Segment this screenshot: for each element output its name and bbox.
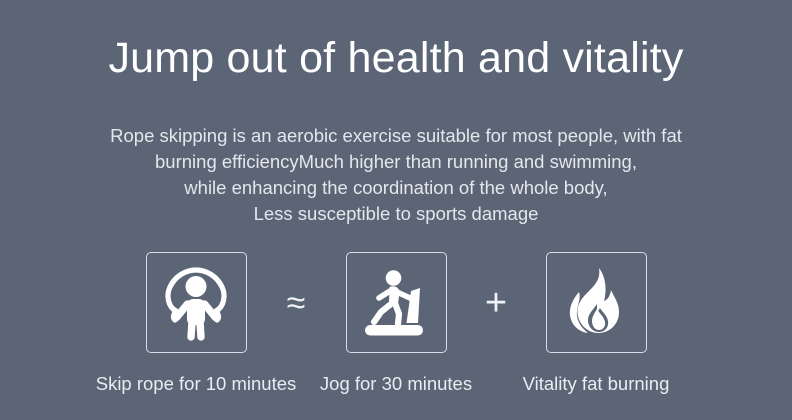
flame-icon: [561, 266, 631, 340]
comparison-item-skip-rope: Skip rope for 10 minutes: [122, 252, 270, 395]
comparison-caption-jog: Jog for 30 minutes: [320, 373, 472, 395]
description-line-2: burning efficiencyMuch higher than runni…: [110, 149, 682, 175]
comparison-row: Skip rope for 10 minutes ≈: [0, 252, 792, 395]
description-line-1: Rope skipping is an aerobic exercise sui…: [110, 123, 682, 149]
description-line-3: while enhancing the coordination of the …: [110, 175, 682, 201]
promo-banner: Jump out of health and vitality Rope ski…: [0, 0, 792, 420]
comparison-item-fat-burning: Vitality fat burning: [522, 252, 670, 395]
approximately-equal-operator: ≈: [270, 252, 322, 353]
comparison-caption-skip-rope: Skip rope for 10 minutes: [96, 373, 297, 395]
description-block: Rope skipping is an aerobic exercise sui…: [110, 123, 682, 227]
skip-rope-icon-box: [146, 252, 247, 353]
jump-rope-icon: [159, 264, 233, 342]
jog-icon-box: [346, 252, 447, 353]
comparison-item-jog: Jog for 30 minutes: [322, 252, 470, 395]
comparison-caption-fat-burning: Vitality fat burning: [523, 373, 670, 395]
description-line-4: Less susceptible to sports damage: [110, 201, 682, 227]
page-title: Jump out of health and vitality: [108, 32, 683, 84]
fat-burning-icon-box: [546, 252, 647, 353]
plus-operator: +: [470, 252, 522, 353]
treadmill-running-icon: [358, 265, 434, 341]
